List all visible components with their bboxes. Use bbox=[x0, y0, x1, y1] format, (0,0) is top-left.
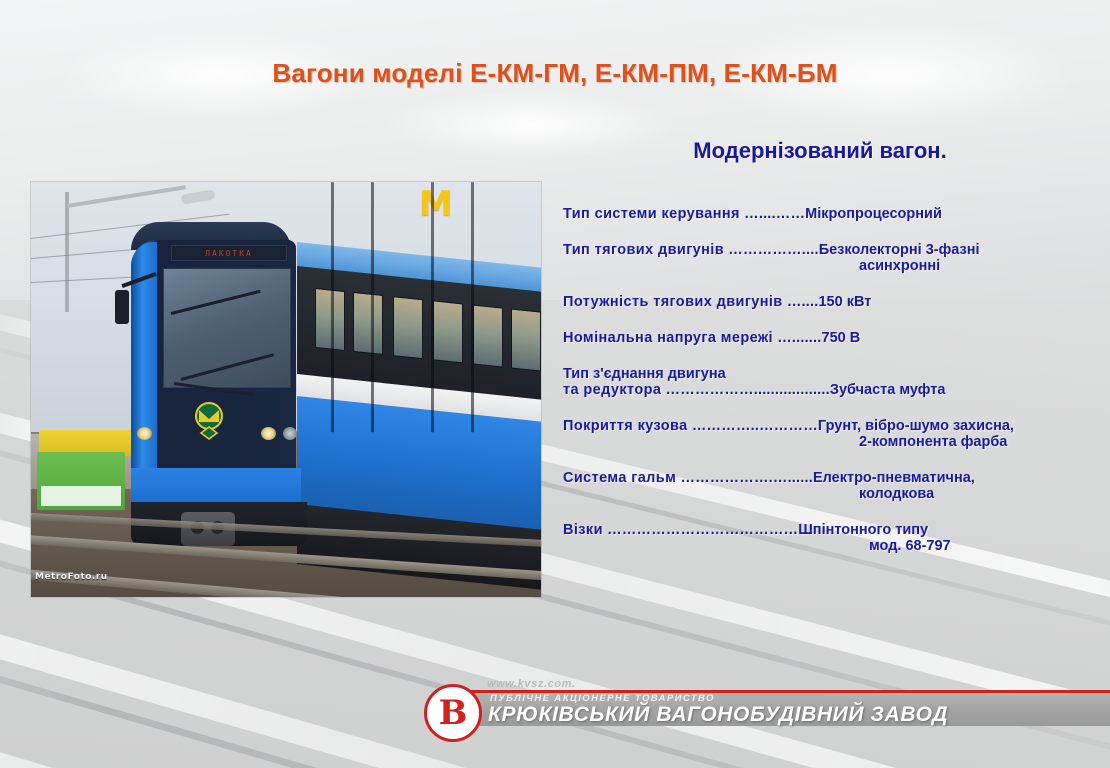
spec-value: Зубчаста муфта bbox=[830, 382, 946, 398]
spec-label: Система гальм bbox=[563, 470, 676, 486]
spec-value: Шпінтонного типу bbox=[798, 522, 928, 538]
spec-label: Тип тягових двигунів bbox=[563, 242, 724, 258]
train-photo: M ЛАКОТКА bbox=[31, 182, 541, 597]
kyiv-metro-emblem-icon bbox=[189, 400, 229, 440]
spec-value-line2: 2-компонента фарба bbox=[563, 434, 1083, 450]
spec-value-line2: асинхронні bbox=[563, 258, 1083, 274]
photo-car-window bbox=[473, 304, 503, 367]
spec-label: Тип системи керування bbox=[563, 206, 740, 222]
photo-car-door-line bbox=[331, 182, 334, 432]
company-logo: В bbox=[424, 684, 482, 742]
spec-dots: ……………….................. bbox=[661, 382, 830, 398]
footer-website-url: www.kvsz.com. bbox=[487, 678, 576, 690]
spec-dots: ………………………………… bbox=[603, 522, 798, 538]
spec-label: Номінальна напруга мережі bbox=[563, 330, 773, 346]
spec-value: Мікропроцесорний bbox=[805, 206, 942, 222]
spec-label-line2: та редуктора bbox=[563, 382, 661, 398]
spec-dots: …………..………… bbox=[688, 418, 818, 434]
spec-value: Електро-пневматична, bbox=[813, 470, 975, 486]
photo-car-window bbox=[433, 300, 463, 363]
photo-car-door-line bbox=[371, 182, 374, 432]
logo-letter: В bbox=[439, 696, 468, 730]
slide-title: Вагони моделі Е-КМ-ГМ, Е-КМ-ПМ, Е-КМ-БМ bbox=[0, 58, 1110, 89]
spec-value-line2: колодкова bbox=[563, 486, 1083, 502]
spec-row: Тип з'єднання двигуна та редуктора ……………… bbox=[563, 366, 1083, 398]
spec-dots: …....…… bbox=[740, 206, 805, 222]
spec-label: Тип з'єднання двигуна bbox=[563, 366, 1083, 382]
spec-label: Потужність тягових двигунів bbox=[563, 294, 783, 310]
spec-row: Тип тягових двигунів ……………....Безколекто… bbox=[563, 242, 1083, 274]
photo-headlamp bbox=[261, 427, 276, 440]
photo-car-door-line bbox=[431, 182, 434, 432]
slide-subtitle: Модернізований вагон. bbox=[560, 138, 1080, 164]
spec-value: Безколекторні 3-фазні bbox=[819, 242, 980, 258]
photo-car-window bbox=[353, 292, 383, 355]
spec-row: Потужність тягових двигунів …....150 кВт bbox=[563, 294, 1083, 310]
photo-side-mirror bbox=[115, 290, 129, 324]
spec-dots: …....... bbox=[773, 330, 822, 346]
photo-headlamp bbox=[137, 427, 152, 440]
spec-row: Візки …………………………………Шпінтонного типу мод.… bbox=[563, 522, 1083, 554]
photo-headlamp bbox=[283, 427, 297, 440]
spec-dots: ….... bbox=[783, 294, 819, 310]
specification-list: Тип системи керування …....……Мікропроцес… bbox=[563, 206, 1083, 574]
spec-value: 150 кВт bbox=[818, 294, 871, 310]
mcdonalds-sign-icon: M bbox=[419, 190, 467, 220]
photo-car-window bbox=[393, 296, 423, 359]
photo-green-billboard bbox=[37, 452, 125, 510]
photo-windshield bbox=[163, 268, 291, 388]
presentation-slide: Вагони моделі Е-КМ-ГМ, Е-КМ-ПМ, Е-КМ-БМ … bbox=[0, 0, 1110, 768]
photo-car-window bbox=[511, 308, 541, 371]
photo-car-door-line bbox=[471, 182, 474, 432]
destination-board: ЛАКОТКА bbox=[171, 245, 287, 261]
spec-row: Тип системи керування …....……Мікропроцес… bbox=[563, 206, 1083, 222]
spec-row: Номінальна напруга мережі ….......750 В bbox=[563, 330, 1083, 346]
spec-row: Система гальм ……………….…......Електро-пнев… bbox=[563, 470, 1083, 502]
photo-light-pole bbox=[65, 192, 69, 312]
spec-dots: …………….... bbox=[724, 242, 819, 258]
footer-company-name: КРЮКІВСЬКИЙ ВАГОНОБУДІВНИЙ ЗАВОД bbox=[488, 703, 948, 727]
spec-dots: ……………….…...... bbox=[676, 470, 813, 486]
spec-row: Покриття кузова …………..…………Грунт, вібро-ш… bbox=[563, 418, 1083, 450]
spec-label: Візки bbox=[563, 522, 603, 538]
photo-watermark: MetroFoto.ru bbox=[35, 572, 108, 582]
spec-value: Грунт, вібро-шумо захисна, bbox=[818, 418, 1014, 434]
photo-car-window bbox=[315, 288, 345, 351]
spec-value-line2: мод. 68-797 bbox=[563, 538, 1083, 554]
spec-label: Покриття кузова bbox=[563, 418, 688, 434]
spec-value: 750 В bbox=[822, 330, 861, 346]
